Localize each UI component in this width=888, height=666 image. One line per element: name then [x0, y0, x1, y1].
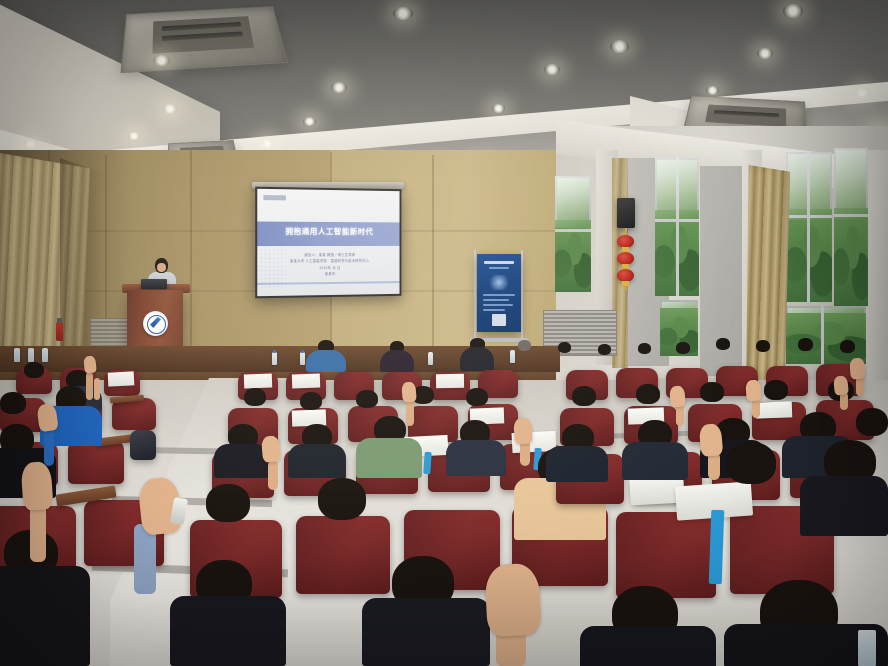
- raised-hand: [849, 358, 865, 380]
- audience-head: [0, 392, 26, 414]
- window: [834, 148, 868, 306]
- audience-arm: [30, 504, 46, 562]
- handout-paper: [244, 374, 272, 389]
- slide-footer-rule: [257, 281, 399, 285]
- projector-screen: 拥抱通用人工智能新时代 报告人：某某 教授／博士生导师 某某大学 人工智能学院 …: [257, 189, 399, 296]
- ceiling-downlight: [303, 117, 316, 126]
- speaker-face: [157, 263, 166, 272]
- water-bottle: [428, 352, 433, 365]
- audience-head: [318, 478, 366, 520]
- banner-subline: [489, 267, 509, 269]
- roll-up-banner: [477, 254, 521, 332]
- raised-hand: [669, 385, 686, 407]
- audience-shoulders: [380, 350, 414, 372]
- audience-arm: [86, 372, 93, 400]
- window: [655, 158, 699, 296]
- audience-head: [244, 388, 266, 406]
- slide-logo: [263, 195, 285, 200]
- audience-shoulders: [546, 446, 608, 482]
- audience-head: [356, 390, 378, 408]
- slide-subtitle-line: 报告人：某某 教授／博士生导师: [257, 252, 399, 258]
- audience-shoulders: [0, 566, 90, 666]
- window-curtain: [746, 165, 790, 390]
- window: [555, 176, 591, 292]
- audience-arm: [94, 378, 100, 400]
- audience-head: [24, 362, 44, 378]
- wall-panel-seam: [190, 150, 192, 362]
- wall-speaker-icon: [617, 198, 635, 228]
- banner-pole: [521, 250, 523, 340]
- ceiling-downlight: [492, 104, 505, 113]
- audience-head: [300, 392, 322, 410]
- audience-shoulders: [356, 438, 422, 478]
- audience-shoulders: [622, 442, 688, 480]
- window-glare: [786, 152, 832, 220]
- ceiling-downlight: [153, 55, 170, 66]
- ceiling-downlight: [610, 40, 629, 53]
- ceiling-downlight: [24, 140, 37, 149]
- tote-bag-strap: [709, 510, 725, 584]
- audience-head: [518, 340, 531, 351]
- audience-head: [700, 382, 724, 402]
- audience-shoulders: [362, 598, 490, 666]
- banner-illustration: [487, 275, 511, 290]
- handout-paper: [436, 374, 464, 388]
- auditorium-seat: [68, 440, 124, 484]
- audience-head: [856, 408, 888, 436]
- banner-textline: [483, 299, 509, 301]
- audience-arm: [406, 400, 414, 426]
- handout-paper: [292, 374, 320, 389]
- audience-shoulders: [580, 626, 716, 666]
- audience-head: [206, 484, 250, 522]
- window-foliage: [786, 313, 866, 364]
- audience-shoulders: [170, 596, 286, 666]
- water-bottle: [272, 352, 277, 365]
- handout-paper: [108, 371, 135, 386]
- ceiling-downlight: [757, 48, 773, 59]
- raised-hand: [484, 563, 542, 638]
- audience-shoulders: [306, 350, 346, 372]
- auditorium-seat: [296, 516, 390, 594]
- handout-paper: [756, 401, 793, 418]
- raised-hand: [401, 381, 417, 402]
- audience-arm: [44, 428, 54, 466]
- ceiling-downlight: [544, 64, 560, 75]
- lantern-cap: [622, 281, 629, 286]
- audience-shoulders: [800, 476, 888, 536]
- bottle-cap: [273, 350, 276, 353]
- water-bottle: [14, 348, 20, 362]
- window: [786, 152, 832, 302]
- audience-shoulders: [446, 440, 506, 476]
- audience-head: [558, 342, 571, 353]
- audience-head: [676, 342, 690, 354]
- banner-textline: [483, 309, 505, 311]
- ceiling-downlight: [783, 4, 803, 18]
- audience-head: [798, 338, 813, 351]
- audience-shoulders: [460, 347, 494, 371]
- water-bottle: [42, 348, 48, 362]
- banner-pole: [474, 250, 476, 340]
- audience-head: [636, 384, 660, 404]
- ceiling-downlight: [393, 7, 413, 20]
- laptop-icon: [141, 279, 167, 289]
- water-bottle: [28, 348, 34, 362]
- audience-arm: [708, 452, 720, 480]
- audience-head: [466, 388, 488, 406]
- window-glare: [555, 176, 591, 228]
- ac-vent-icon: [120, 6, 287, 73]
- raised-hand: [261, 435, 281, 462]
- slide-subtitle-line: 某某市: [257, 270, 399, 276]
- ceiling-downlight: [706, 86, 719, 95]
- audience-head: [756, 340, 770, 352]
- window-glare: [655, 158, 699, 220]
- audience-head: [726, 442, 776, 484]
- audience-head: [716, 338, 730, 350]
- ceiling-downlight: [855, 88, 869, 98]
- window-glare: [834, 148, 868, 219]
- water-bottle: [858, 630, 876, 666]
- banner-textline: [483, 304, 513, 306]
- slide-title: 拥抱通用人工智能新时代: [257, 226, 399, 238]
- audience-arm: [268, 460, 278, 490]
- projector-screen-frame: 拥抱通用人工智能新时代 报告人：某某 教授／博士生导师 某某大学 人工智能学院 …: [255, 187, 401, 299]
- audience-head: [638, 343, 651, 354]
- water-bottle: [510, 350, 515, 363]
- audience-shoulders: [288, 444, 346, 478]
- ceiling-downlight: [331, 82, 347, 93]
- wall-panel-seam: [432, 155, 434, 355]
- auditorium-seat: [616, 512, 716, 598]
- ceiling-downlight: [163, 104, 177, 114]
- lecture-hall-photo: 拥抱通用人工智能新时代 报告人：某某 教授／博士生导师 某某大学 人工智能学院 …: [0, 0, 888, 666]
- window-foliage: [834, 208, 868, 306]
- ceiling-downlight: [128, 132, 140, 140]
- window: [786, 306, 866, 364]
- raised-hand: [833, 375, 849, 395]
- audience-head: [598, 344, 611, 355]
- fire-extinguisher-nozzle: [57, 318, 62, 323]
- audience-head: [840, 340, 855, 353]
- raised-hand: [513, 417, 533, 444]
- backpack: [130, 430, 156, 460]
- auditorium-seat: [112, 398, 156, 430]
- ceiling-downlight: [261, 140, 273, 148]
- water-bottle: [300, 352, 305, 365]
- banner-textline: [483, 294, 515, 296]
- fire-extinguisher-icon: [56, 322, 63, 341]
- raised-hand: [83, 355, 97, 373]
- raised-hand: [745, 380, 761, 402]
- banner-headline: [484, 261, 514, 264]
- bottle-cap: [301, 350, 304, 353]
- audience-head: [764, 380, 788, 400]
- audience-head: [572, 386, 596, 406]
- slide-subtitle-line: 某某大学 人工智能学院 · 智能科学与技术研究中心: [257, 258, 399, 264]
- banner-qr-logo: [492, 314, 506, 326]
- audience-arm: [676, 404, 684, 426]
